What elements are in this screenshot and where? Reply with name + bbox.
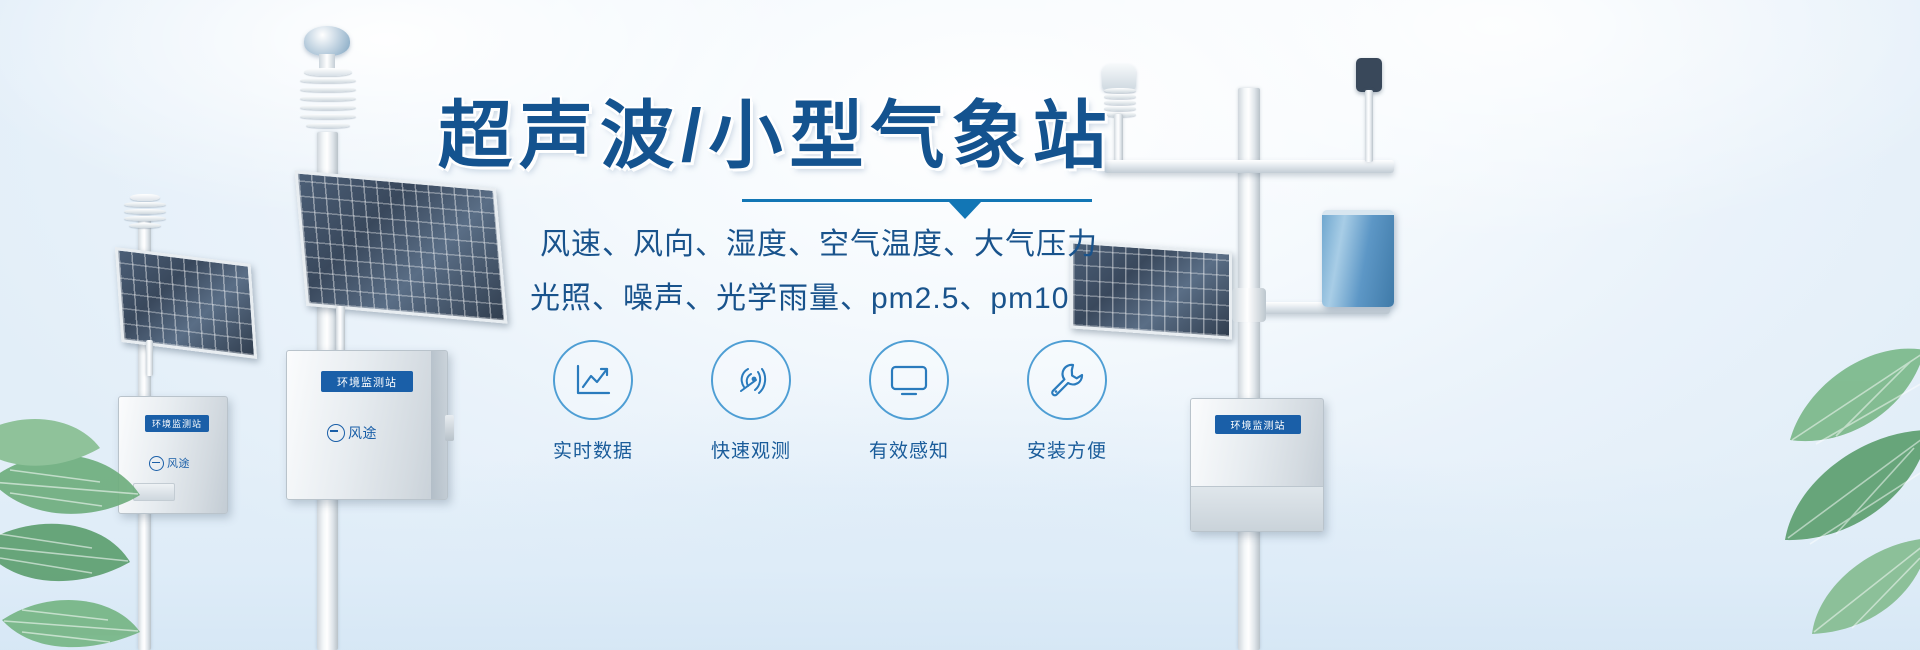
rain-sensor-stem xyxy=(1365,90,1373,162)
cabinet-lower-panel xyxy=(1191,486,1323,531)
banner-copy: 超声波/小型气象站 风速、风向、湿度、空气温度、大气压力 光照、噪声、光学雨量、… xyxy=(430,96,1120,326)
line-chart-icon xyxy=(573,362,613,398)
brand-mark-icon xyxy=(327,424,345,442)
tropical-leaf-left xyxy=(0,330,230,650)
feature-circle xyxy=(711,340,791,420)
subtitle-line-2: 光照、噪声、光学雨量、pm2.5、pm10 xyxy=(530,272,1120,326)
feature-item-realtime-data[interactable]: 实时数据 xyxy=(548,340,638,463)
enclosure-cabinet: 环境监测站 风途 xyxy=(286,350,448,500)
upper-crossarm xyxy=(1104,160,1394,173)
radiation-shield xyxy=(300,68,356,134)
cabinet-label: 环境监测站 xyxy=(1215,415,1301,434)
subtitle-line-1: 风速、风向、湿度、空气温度、大气压力 xyxy=(540,218,1120,272)
feature-item-effective-sensing[interactable]: 有效感知 xyxy=(864,340,954,463)
feature-item-fast-observation[interactable]: 快速观测 xyxy=(706,340,796,463)
page-title: 超声波/小型气象站 xyxy=(438,96,1120,176)
title-divider xyxy=(742,190,1092,212)
optical-rain-sensor xyxy=(1356,58,1382,92)
monitor-icon xyxy=(888,363,930,397)
product-banner: 环境监测站 风途 环境监测站 xyxy=(0,0,1920,650)
wind-sensor-cup xyxy=(304,26,350,56)
ultrasonic-wind-sensor xyxy=(1102,64,1136,90)
feature-label: 快速观测 xyxy=(711,436,791,463)
feature-list: 实时数据 快速观测 xyxy=(548,340,1112,463)
wrench-icon xyxy=(1047,360,1087,400)
feature-label: 实时数据 xyxy=(553,436,633,463)
divider-triangle-icon xyxy=(949,202,981,219)
feature-label: 有效感知 xyxy=(869,436,949,463)
divider-line xyxy=(742,199,1092,202)
radiation-shield xyxy=(124,194,166,234)
tropical-leaf-right xyxy=(1640,290,1920,650)
rain-gauge-bucket xyxy=(1322,210,1394,307)
enclosure-cabinet: 环境监测站 xyxy=(1190,398,1324,532)
signal-observe-icon xyxy=(731,360,771,400)
feature-circle xyxy=(869,340,949,420)
mast-collar xyxy=(1232,288,1266,322)
panel-bracket xyxy=(336,306,345,352)
feature-circle xyxy=(1027,340,1107,420)
cabinet-brand: 风途 xyxy=(327,423,377,443)
feature-item-easy-installation[interactable]: 安装方便 xyxy=(1022,340,1112,463)
brand-name: 风途 xyxy=(348,423,377,443)
feature-label: 安装方便 xyxy=(1027,436,1107,463)
feature-circle xyxy=(553,340,633,420)
cabinet-label: 环境监测站 xyxy=(321,371,413,392)
cabinet-latch xyxy=(445,415,454,441)
